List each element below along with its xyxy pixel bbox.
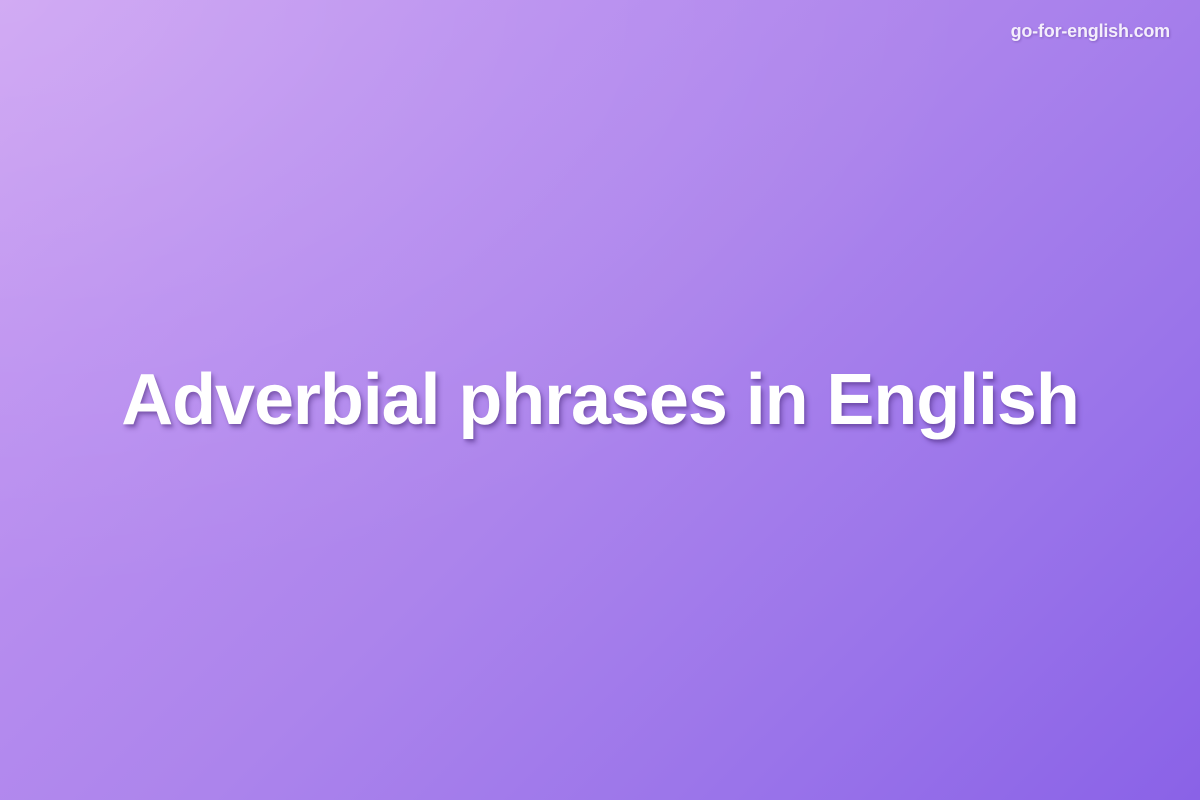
hero-banner: go-for-english.com Adverbial phrases in … [0, 0, 1200, 800]
title-container: Adverbial phrases in English [0, 0, 1200, 800]
site-watermark: go-for-english.com [1011, 21, 1170, 42]
page-title: Adverbial phrases in English [121, 360, 1078, 441]
